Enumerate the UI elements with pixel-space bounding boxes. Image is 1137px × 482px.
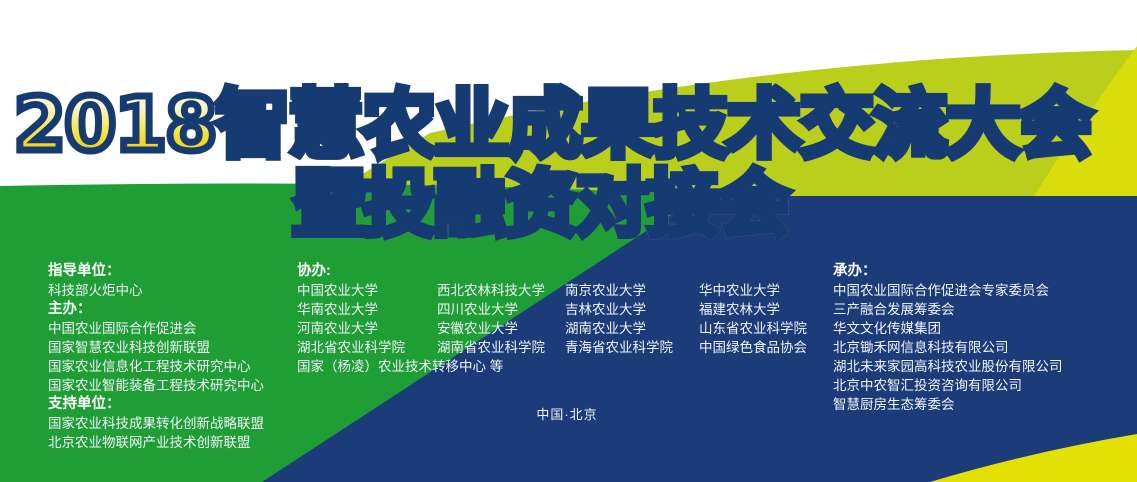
- undertaker-item: 湖北未来家园高科技农业股份有限公司: [833, 357, 1133, 376]
- supporters-item: 国家农业科技成果转化创新战略联盟: [48, 414, 298, 433]
- undertaker-item: 智慧厨房生态筹委会: [833, 395, 1133, 414]
- organizers-item: 国家农业信息化工程技术研究中心: [48, 357, 298, 376]
- undertaker-item: 三产融合发展筹委会: [833, 300, 1133, 319]
- co-organizers-grid: 中国农业大学 西北农林科技大学 南京农业大学 华中农业大学 华南农业大学 四川农…: [297, 281, 837, 357]
- undertaker-item: 华文文化传媒集团: [833, 319, 1133, 338]
- co-organizer-cell: 华南农业大学: [297, 300, 437, 319]
- co-organizer-cell: 中国绿色食品协会: [699, 338, 837, 357]
- column-undertakers: 承办： 中国农业国际合作促进会专家委员会 三产融合发展筹委会 华文文化传媒集团 …: [833, 262, 1133, 414]
- organizers-heading: 主办：: [48, 300, 298, 319]
- conference-banner: 2018智慧农业成果技术交流大会 暨投融资对接会 指导单位： 科技部火炬中心 主…: [0, 0, 1137, 482]
- guidance-item: 科技部火炬中心: [48, 281, 298, 300]
- organizers-item: 国家智慧农业科技创新联盟: [48, 338, 298, 357]
- banner-info: 指导单位： 科技部火炬中心 主办： 中国农业国际合作促进会 国家智慧农业科技创新…: [0, 262, 1137, 462]
- organizers-item: 中国农业国际合作促进会: [48, 319, 298, 338]
- undertaker-item: 北京中农智汇投资咨询有限公司: [833, 376, 1133, 395]
- organizers-item: 国家农业智能装备工程技术研究中心: [48, 376, 298, 395]
- co-organizer-cell: 四川农业大学: [437, 300, 565, 319]
- co-organizer-cell: 青海省农业科学院: [565, 338, 699, 357]
- undertaker-item: 北京锄禾网信息科技有限公司: [833, 338, 1133, 357]
- supporters-item: 北京农业物联网产业技术创新联盟: [48, 433, 298, 452]
- undertaker-item: 中国农业国际合作促进会专家委员会: [833, 281, 1133, 300]
- event-location: 中国·北京: [297, 406, 837, 424]
- supporters-heading: 支持单位：: [48, 395, 298, 414]
- guidance-heading: 指导单位：: [48, 262, 298, 281]
- co-organizer-cell: 湖南农业大学: [565, 319, 699, 338]
- undertakers-heading: 承办：: [833, 262, 1133, 281]
- co-organizer-cell: 西北农林科技大学: [437, 281, 565, 300]
- co-organizer-cell: 南京农业大学: [565, 281, 699, 300]
- column-guidance: 指导单位： 科技部火炬中心 主办： 中国农业国际合作促进会 国家智慧农业科技创新…: [48, 262, 298, 452]
- column-co-organizers: 协办: 中国农业大学 西北农林科技大学 南京农业大学 华中农业大学 华南农业大学…: [297, 262, 837, 376]
- co-organizer-cell: 湖北省农业科学院: [297, 338, 437, 357]
- co-organizer-cell: 河南农业大学: [297, 319, 437, 338]
- co-organizers-heading: 协办:: [297, 262, 837, 281]
- co-organizers-last-line: 国家（杨凌）农业技术转移中心 等: [297, 357, 837, 376]
- co-organizer-cell: 中国农业大学: [297, 281, 437, 300]
- co-organizer-cell: 山东省农业科学院: [699, 319, 837, 338]
- co-organizer-cell: 安徽农业大学: [437, 319, 565, 338]
- co-organizer-cell: 吉林农业大学: [565, 300, 699, 319]
- co-organizer-cell: 湖南省农业科学院: [437, 338, 565, 357]
- co-organizer-cell: 福建农林大学: [699, 300, 837, 319]
- co-organizer-cell: 华中农业大学: [699, 281, 837, 300]
